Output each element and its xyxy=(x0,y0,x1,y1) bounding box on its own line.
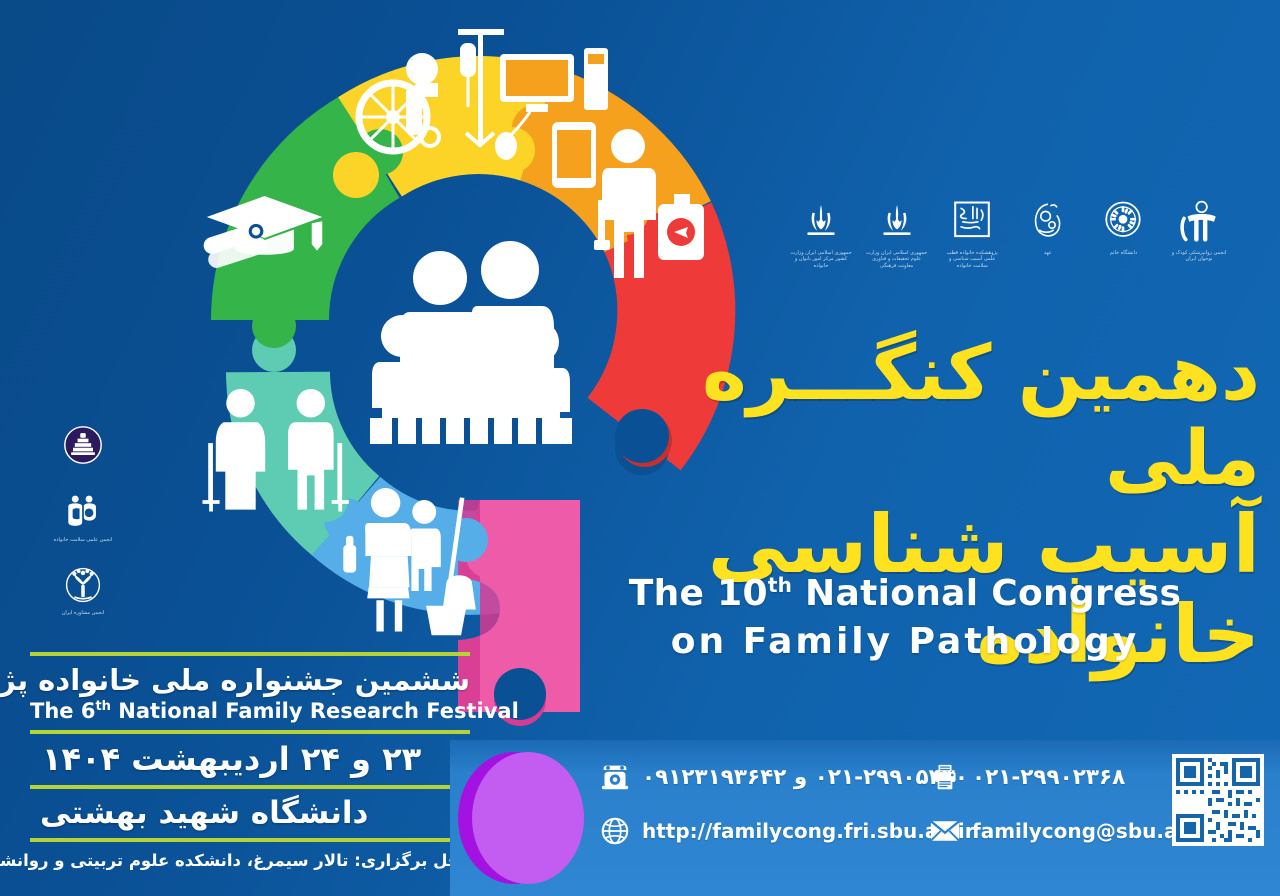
website-url[interactable]: http://familycong.fri.sbu.ac.ir xyxy=(642,819,975,843)
logo-caption: انجمن روانپزشکی کودک و نوجوان ایران xyxy=(1168,250,1230,263)
qr-code[interactable] xyxy=(1172,754,1264,846)
phone-number[interactable]: ۰۲۱-۲۹۹۰۵۴۳۰ و ۰۹۱۲۳۱۹۳۶۴۲ xyxy=(642,765,968,790)
fest-en-post: National Family Research Festival xyxy=(111,699,519,723)
accent-divider-3 xyxy=(30,785,470,789)
university-seal-icon xyxy=(63,425,103,469)
logo-caption: انجمن مشاوره ایران xyxy=(62,610,105,617)
fax-number[interactable]: ۰۲۱-۲۹۹۰۲۳۶۸ xyxy=(972,765,1125,790)
logo-family-research-institute-ahd: عهد xyxy=(1017,195,1079,287)
main-title-en: The 10th National Congress on Family Pat… xyxy=(560,570,1250,666)
purple-sphere-decoration xyxy=(452,748,592,888)
fest-en-pre: The 6 xyxy=(30,699,95,723)
festival-block: ششمین جشنواره ملی خانواده پژوهی The 6th … xyxy=(30,645,470,870)
accent-divider-1 xyxy=(30,652,470,656)
parent-child-figures-icon xyxy=(64,493,102,535)
logo-iranian-child-adolescent-psychiatry-association: انجمن روانپزشکی کودک و نوجوان ایران xyxy=(1168,195,1230,287)
en-line1-post: National Congress xyxy=(792,573,1181,614)
event-university: دانشگاه شهید بهشتی xyxy=(30,795,470,831)
sponsor-logos-top: انجمن روانپزشکی کودک و نوجوان ایران xyxy=(790,195,1230,290)
khatam-rosette-icon xyxy=(1101,195,1145,247)
logo-caption: انجمن علمی سلامت خانواده xyxy=(54,537,113,544)
logo-caption: عهد xyxy=(1044,250,1052,256)
logo-family-research-institute-sbu: پژوهشکده خانواده قطب علمی آسیب شناسی و س… xyxy=(941,195,1003,287)
main-title-en-line2: on Family Pathology xyxy=(560,618,1250,666)
en-line1-pre: The 10 xyxy=(629,573,768,614)
telephone-icon xyxy=(600,762,630,792)
logo-ministry-of-interior: جمهوری اسلامی ایران وزارت کشور مرکز امور… xyxy=(790,195,852,287)
envelope-icon xyxy=(930,816,960,846)
fax-icon xyxy=(930,762,960,792)
tree-circle-icon xyxy=(64,566,102,608)
event-venue: محل برگزاری: تالار سیمرغ، دانشکده علوم ت… xyxy=(30,851,470,870)
congress-poster: دهمین کنگـــره ملی آسیب شناسی خانواده Th… xyxy=(0,0,1280,896)
logo-caption: جمهوری اسلامی ایران وزارت علوم تحقیقات و… xyxy=(866,250,928,269)
globe-icon xyxy=(600,816,630,846)
festival-title-en: The 6th National Family Research Festiva… xyxy=(30,699,470,723)
iran-emblem-icon xyxy=(878,195,916,247)
accent-divider-2 xyxy=(30,730,470,734)
main-title-fa-line1: دهمین کنگـــره ملی xyxy=(560,330,1260,500)
sbu-seal-icon xyxy=(951,195,993,247)
sponsor-logos-left: انجمن علمی سلامت خانواده ان xyxy=(48,425,118,638)
event-date: ۲۳ و ۲۴ اردیبهشت ۱۴۰۴ xyxy=(30,740,470,778)
en-line1-sup: th xyxy=(768,573,792,597)
child-adolescent-figure-icon xyxy=(1177,195,1221,247)
logo-psychology-tree: انجمن مشاوره ایران xyxy=(48,566,118,617)
mother-child-calligraphy-icon xyxy=(1028,195,1068,247)
logo-caption: دانشگاه خاتم xyxy=(1110,250,1137,256)
logo-caption: پژوهشکده خانواده قطب علمی آسیب شناسی و س… xyxy=(941,250,1003,269)
main-title-en-line1: The 10th National Congress xyxy=(560,570,1250,618)
fest-en-sup: th xyxy=(95,699,110,714)
logo-university-seal xyxy=(48,425,118,471)
family-group-icon xyxy=(370,241,572,444)
logo-ministry-of-science: جمهوری اسلامی ایران وزارت علوم تحقیقات و… xyxy=(866,195,928,287)
contact-website-row: http://familycong.fri.sbu.ac.ir xyxy=(600,816,975,846)
iran-emblem-icon xyxy=(802,195,840,247)
logo-khatam-university: دانشگاه خاتم xyxy=(1092,195,1154,287)
accent-divider-4 xyxy=(30,838,470,842)
festival-title-fa: ششمین جشنواره ملی خانواده پژوهی xyxy=(30,662,470,698)
contact-phone-row: ۰۲۱-۲۹۹۰۵۴۳۰ و ۰۹۱۲۳۱۹۳۶۴۲ xyxy=(600,762,968,792)
logo-family-health-association: انجمن علمی سلامت خانواده xyxy=(48,493,118,544)
contact-fax-row: ۰۲۱-۲۹۹۰۲۳۶۸ xyxy=(930,762,1125,792)
logo-caption: جمهوری اسلامی ایران وزارت کشور مرکز امور… xyxy=(790,250,852,269)
